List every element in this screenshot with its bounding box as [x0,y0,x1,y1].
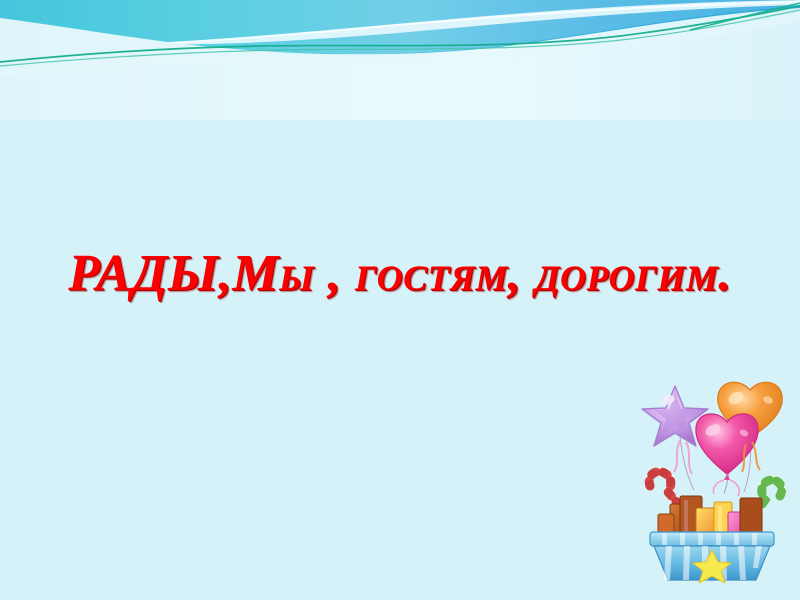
wave-deep-stripe [270,6,800,58]
wave-green-accent-right [690,3,800,30]
wave-white-filament [130,2,800,45]
wave-main-band [0,0,800,54]
wave-soft-edge [0,12,800,76]
wave-light-streak [140,0,800,44]
wave-green-accent-line [0,6,800,62]
basket [650,532,774,583]
wave-green-accent-line-2 [0,10,800,66]
presentation-slide: РАДЫ,Мы , гостям, дорогим. [0,0,800,600]
top-wave-ribbon [0,0,800,120]
wave-pale-underlay [0,8,800,120]
slide-title: РАДЫ,Мы , гостям, дорогим. [0,247,800,302]
gift-basket-with-balloons-clipart [628,378,796,583]
